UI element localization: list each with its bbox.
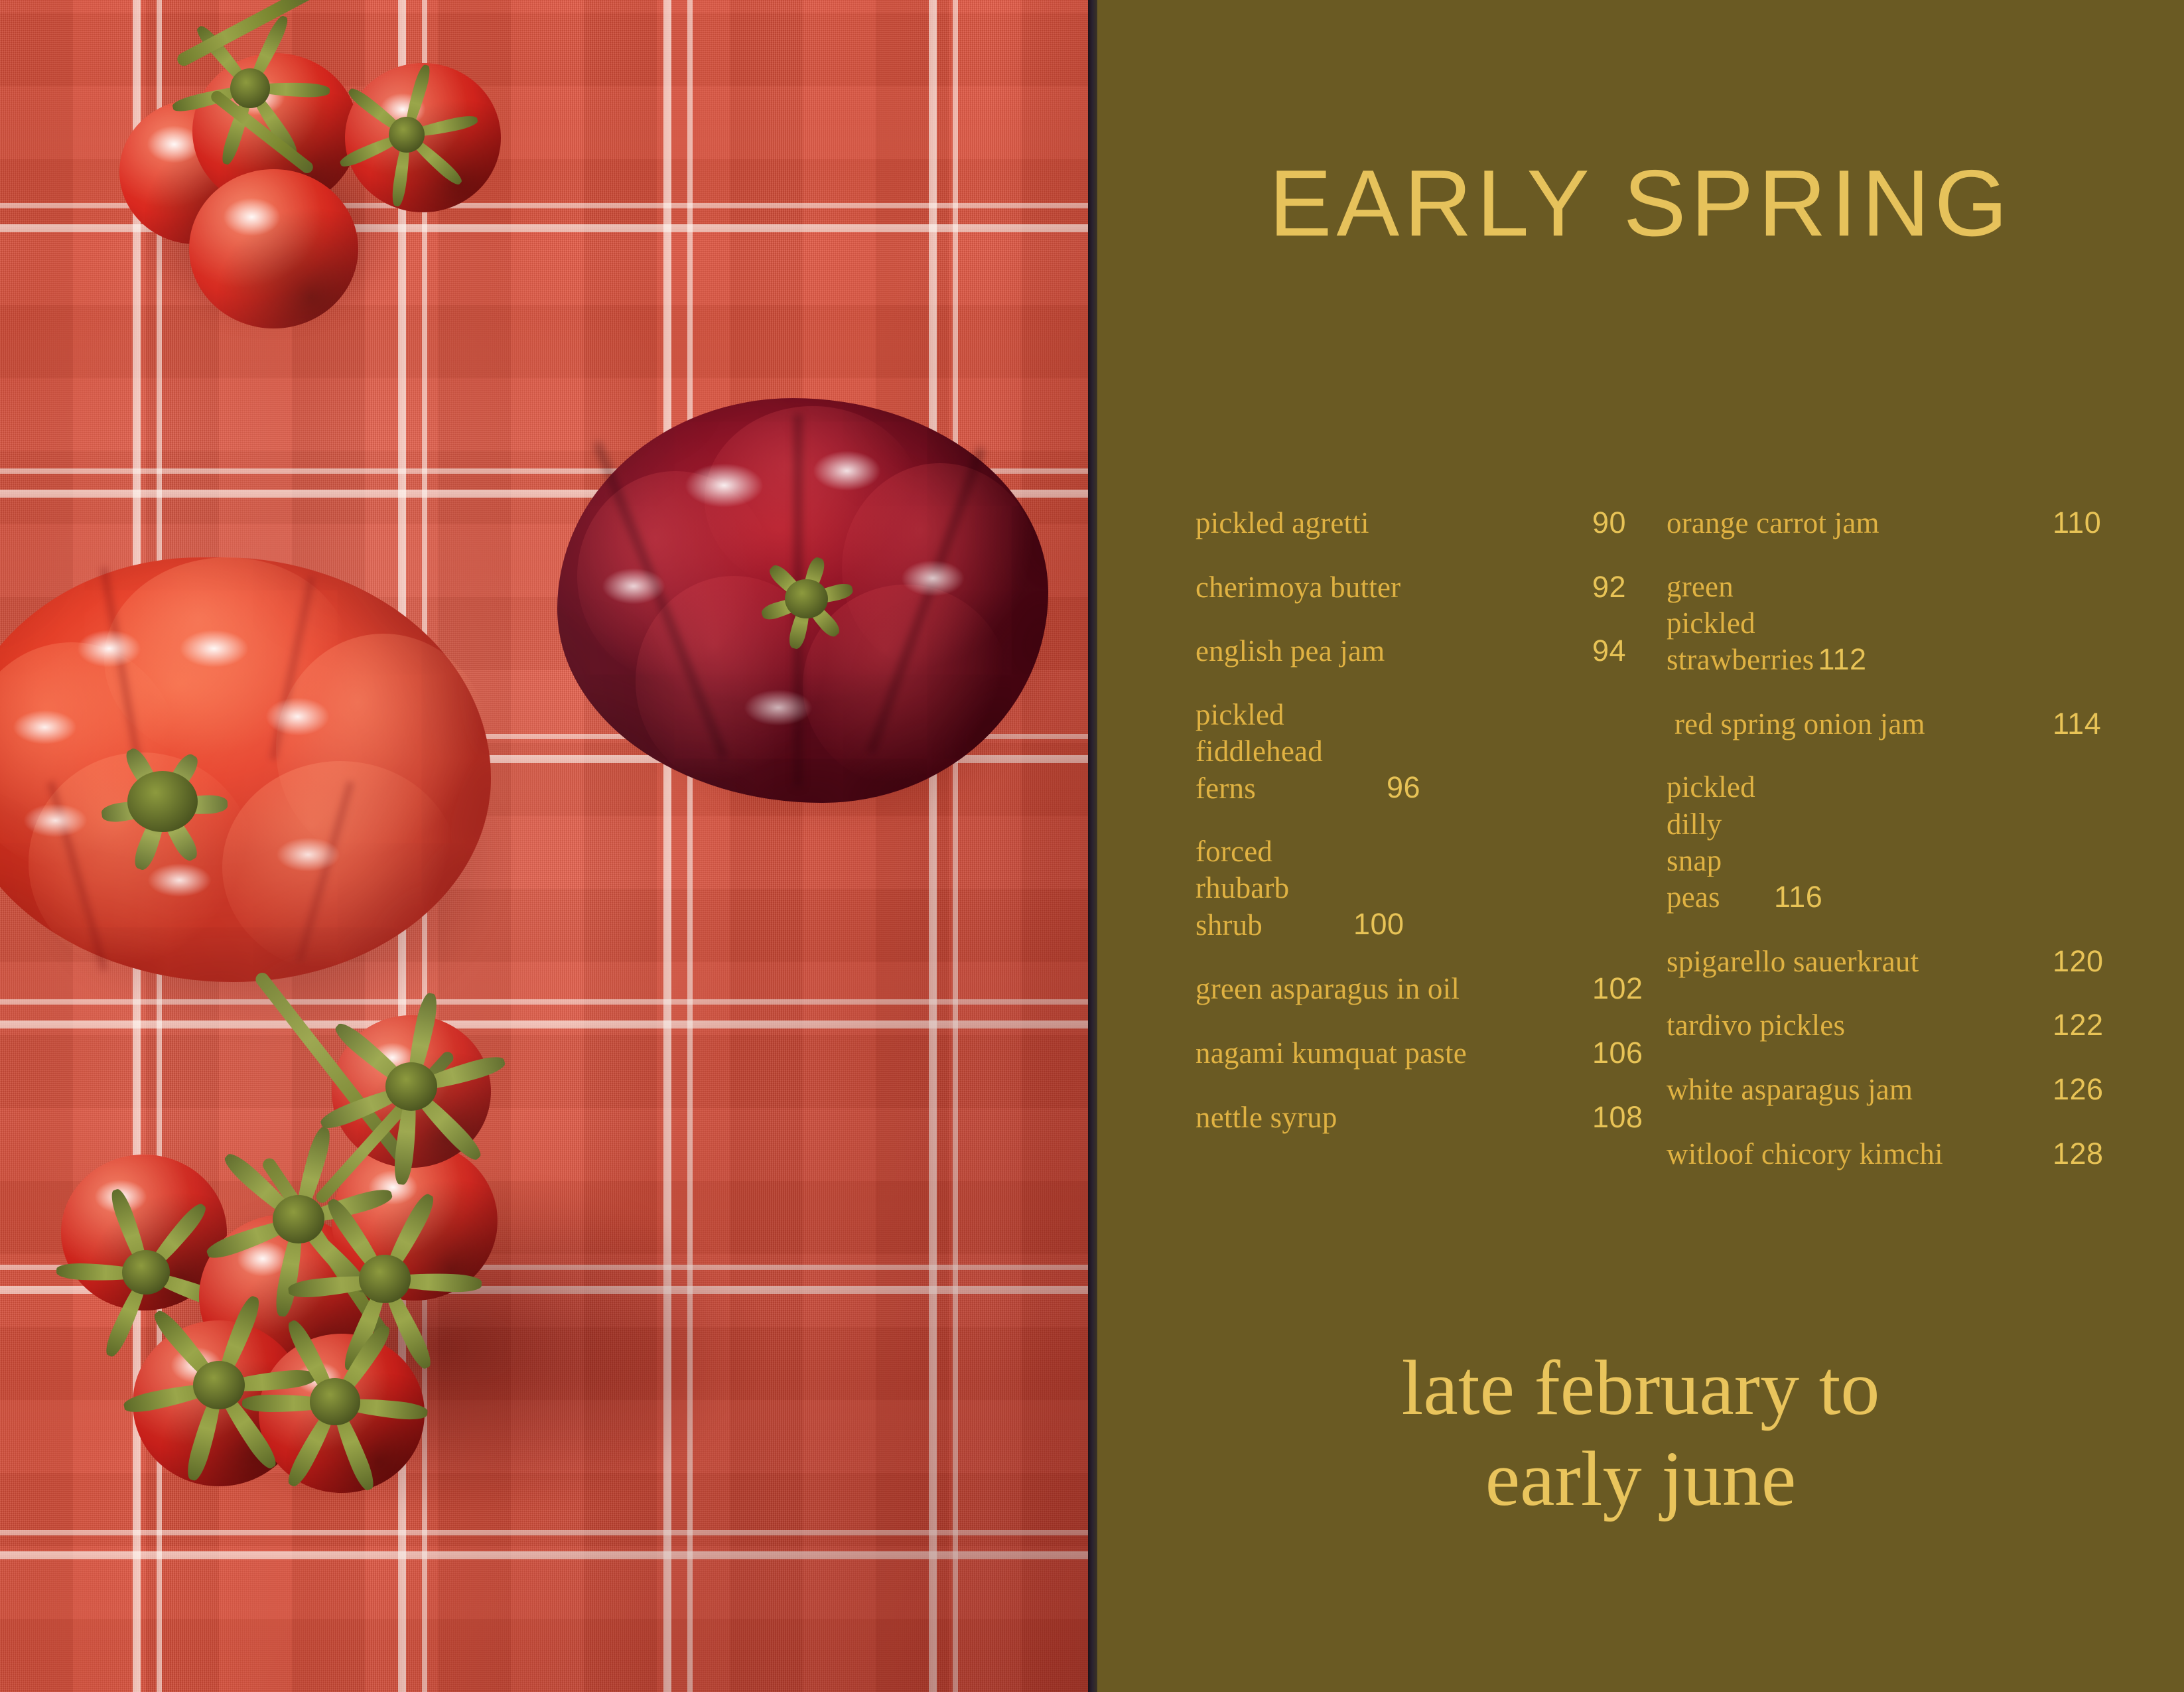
toc-entry-page: 106 xyxy=(1592,1034,1667,1072)
toc-entry-page: 128 xyxy=(2053,1135,2138,1173)
toc-entry-title: tardivo pickles xyxy=(1667,1007,2049,1044)
toc-entry-title: nettle syrup xyxy=(1195,1099,1588,1137)
toc-entry-title: orange carrot jam xyxy=(1667,504,2049,542)
toc-entry-page: 122 xyxy=(2053,1007,2138,1044)
toc-column-right: orange carrot jam 110 green pickled stra… xyxy=(1667,504,2138,1200)
toc-entry[interactable]: white asparagus jam 126 xyxy=(1667,1071,2138,1109)
toc-entry-title: green pickled strawberries xyxy=(1667,569,1814,679)
toc-entry[interactable]: green pickled strawberries 112 xyxy=(1667,569,1885,679)
toc-entry-title: green asparagus in oil xyxy=(1195,970,1588,1008)
toc-entry-page: 102 xyxy=(1592,970,1667,1008)
toc-entry-title: english pea jam xyxy=(1195,632,1588,670)
toc-entry-page: 92 xyxy=(1592,569,1667,606)
toc-entry[interactable]: orange carrot jam 110 xyxy=(1667,504,2138,542)
toc-entry[interactable]: witloof chicory kimchi 128 xyxy=(1667,1135,2138,1173)
toc-column-left: pickled agretti 90 cherimoya butter 92 e… xyxy=(1195,504,1667,1200)
toc-entry-page: 126 xyxy=(2053,1071,2138,1109)
toc-entry-page: 114 xyxy=(2053,705,2138,743)
season-date-line-1: late february to xyxy=(1097,1343,2184,1434)
table-of-contents: pickled agretti 90 cherimoya butter 92 e… xyxy=(1195,504,2138,1200)
page-gutter xyxy=(1088,0,1097,1692)
toc-entry[interactable]: pickled fiddlehead ferns 96 xyxy=(1195,697,1461,807)
toc-entry[interactable]: cherimoya butter 92 xyxy=(1195,569,1667,606)
season-date-line-2: early june xyxy=(1097,1434,2184,1525)
toc-entry-title: white asparagus jam xyxy=(1667,1071,2049,1109)
toc-entry-title: pickled fiddlehead ferns xyxy=(1195,697,1383,807)
toc-entry[interactable]: pickled agretti 90 xyxy=(1195,504,1667,542)
toc-entry[interactable]: forced rhubarb shrub 100 xyxy=(1195,833,1428,944)
toc-entry-page: 90 xyxy=(1592,504,1667,542)
page-title: EARLY SPRING xyxy=(1097,157,2184,251)
contents-page: EARLY SPRING pickled agretti 90 cherimoy… xyxy=(1097,0,2184,1692)
season-date-range: late february to early june xyxy=(1097,1343,2184,1525)
toc-entry-page: 110 xyxy=(2053,504,2138,542)
photo-lighting-overlay xyxy=(0,0,1088,1692)
toc-entry[interactable]: nagami kumquat paste 106 xyxy=(1195,1034,1667,1072)
toc-entry-page: 116 xyxy=(1774,879,1859,916)
cookbook-spread: EARLY SPRING pickled agretti 90 cherimoy… xyxy=(0,0,2184,1692)
toc-entry[interactable]: red spring onion jam 114 xyxy=(1667,705,2138,743)
toc-entry-page: 112 xyxy=(1818,641,1903,679)
toc-entry[interactable]: english pea jam 94 xyxy=(1195,632,1667,670)
toc-entry-title: red spring onion jam xyxy=(1667,705,2049,743)
photo-page xyxy=(0,0,1088,1692)
toc-entry-title: witloof chicory kimchi xyxy=(1667,1135,2049,1173)
toc-entry-page: 94 xyxy=(1592,632,1667,670)
toc-entry[interactable]: nettle syrup 108 xyxy=(1195,1099,1667,1137)
toc-entry[interactable]: spigarello sauerkraut 120 xyxy=(1667,943,2138,981)
toc-entry[interactable]: pickled dilly snap peas 116 xyxy=(1667,769,1859,916)
toc-entry-page: 100 xyxy=(1353,906,1428,944)
toc-entry[interactable]: green asparagus in oil 102 xyxy=(1195,970,1667,1008)
toc-entry-title: forced rhubarb shrub xyxy=(1195,833,1349,944)
toc-entry-title: pickled agretti xyxy=(1195,504,1588,542)
toc-entry-title: spigarello sauerkraut xyxy=(1667,943,2049,981)
toc-entry-title: cherimoya butter xyxy=(1195,569,1588,606)
toc-entry-title: nagami kumquat paste xyxy=(1195,1034,1588,1072)
toc-entry-page: 108 xyxy=(1592,1099,1667,1137)
toc-entry-title: pickled dilly snap peas xyxy=(1667,769,1770,916)
toc-entry[interactable]: tardivo pickles 122 xyxy=(1667,1007,2138,1044)
toc-entry-page: 96 xyxy=(1387,769,1461,807)
toc-entry-page: 120 xyxy=(2053,943,2138,981)
